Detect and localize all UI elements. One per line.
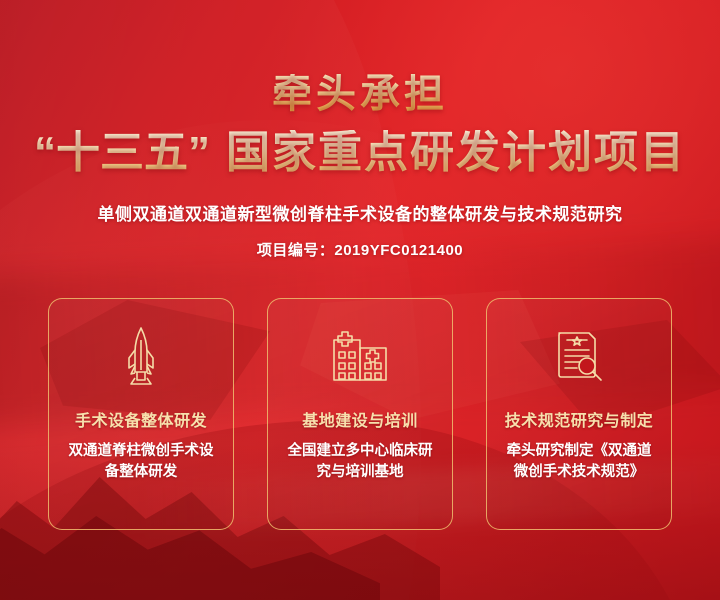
hospital-building-icon	[331, 327, 389, 385]
document-magnifier-icon	[553, 327, 605, 385]
rocket-icon	[121, 327, 161, 385]
project-subtitle: 单侧双通道双通道新型微创脊柱手术设备的整体研发与技术规范研究	[0, 200, 720, 225]
card-description: 牵头研究制定《双通道微创手术技术规范》	[504, 441, 654, 483]
card-title: 基地建设与培训	[302, 407, 418, 431]
headline-primary: 牵头承担	[0, 74, 720, 114]
headline-secondary: “十三五”国家重点研发计划项目	[0, 130, 720, 176]
headline-program-name: 国家重点研发计划项目	[226, 128, 686, 177]
feature-card-list: 手术设备整体研发 双通道脊柱微创手术设备整体研发	[0, 298, 720, 530]
project-number: 项目编号：2019YFC0121400	[0, 239, 720, 260]
poster-content: 牵头承担 “十三五”国家重点研发计划项目 单侧双通道双通道新型微创脊柱手术设备的…	[0, 0, 720, 530]
card-description: 双通道脊柱微创手术设备整体研发	[66, 441, 216, 483]
poster-root: 牵头承担 “十三五”国家重点研发计划项目 单侧双通道双通道新型微创脊柱手术设备的…	[0, 0, 720, 600]
card-title: 手术设备整体研发	[75, 407, 207, 431]
headline-quoted-term: “十三五”	[34, 128, 210, 177]
card-description: 全国建立多中心临床研究与培训基地	[285, 441, 435, 483]
feature-card[interactable]: 技术规范研究与制定 牵头研究制定《双通道微创手术技术规范》	[486, 298, 672, 530]
title-block: 牵头承担 “十三五”国家重点研发计划项目	[0, 0, 720, 176]
feature-card[interactable]: 手术设备整体研发 双通道脊柱微创手术设备整体研发	[48, 298, 234, 530]
card-title: 技术规范研究与制定	[505, 407, 654, 431]
feature-card[interactable]: 基地建设与培训 全国建立多中心临床研究与培训基地	[267, 298, 453, 530]
